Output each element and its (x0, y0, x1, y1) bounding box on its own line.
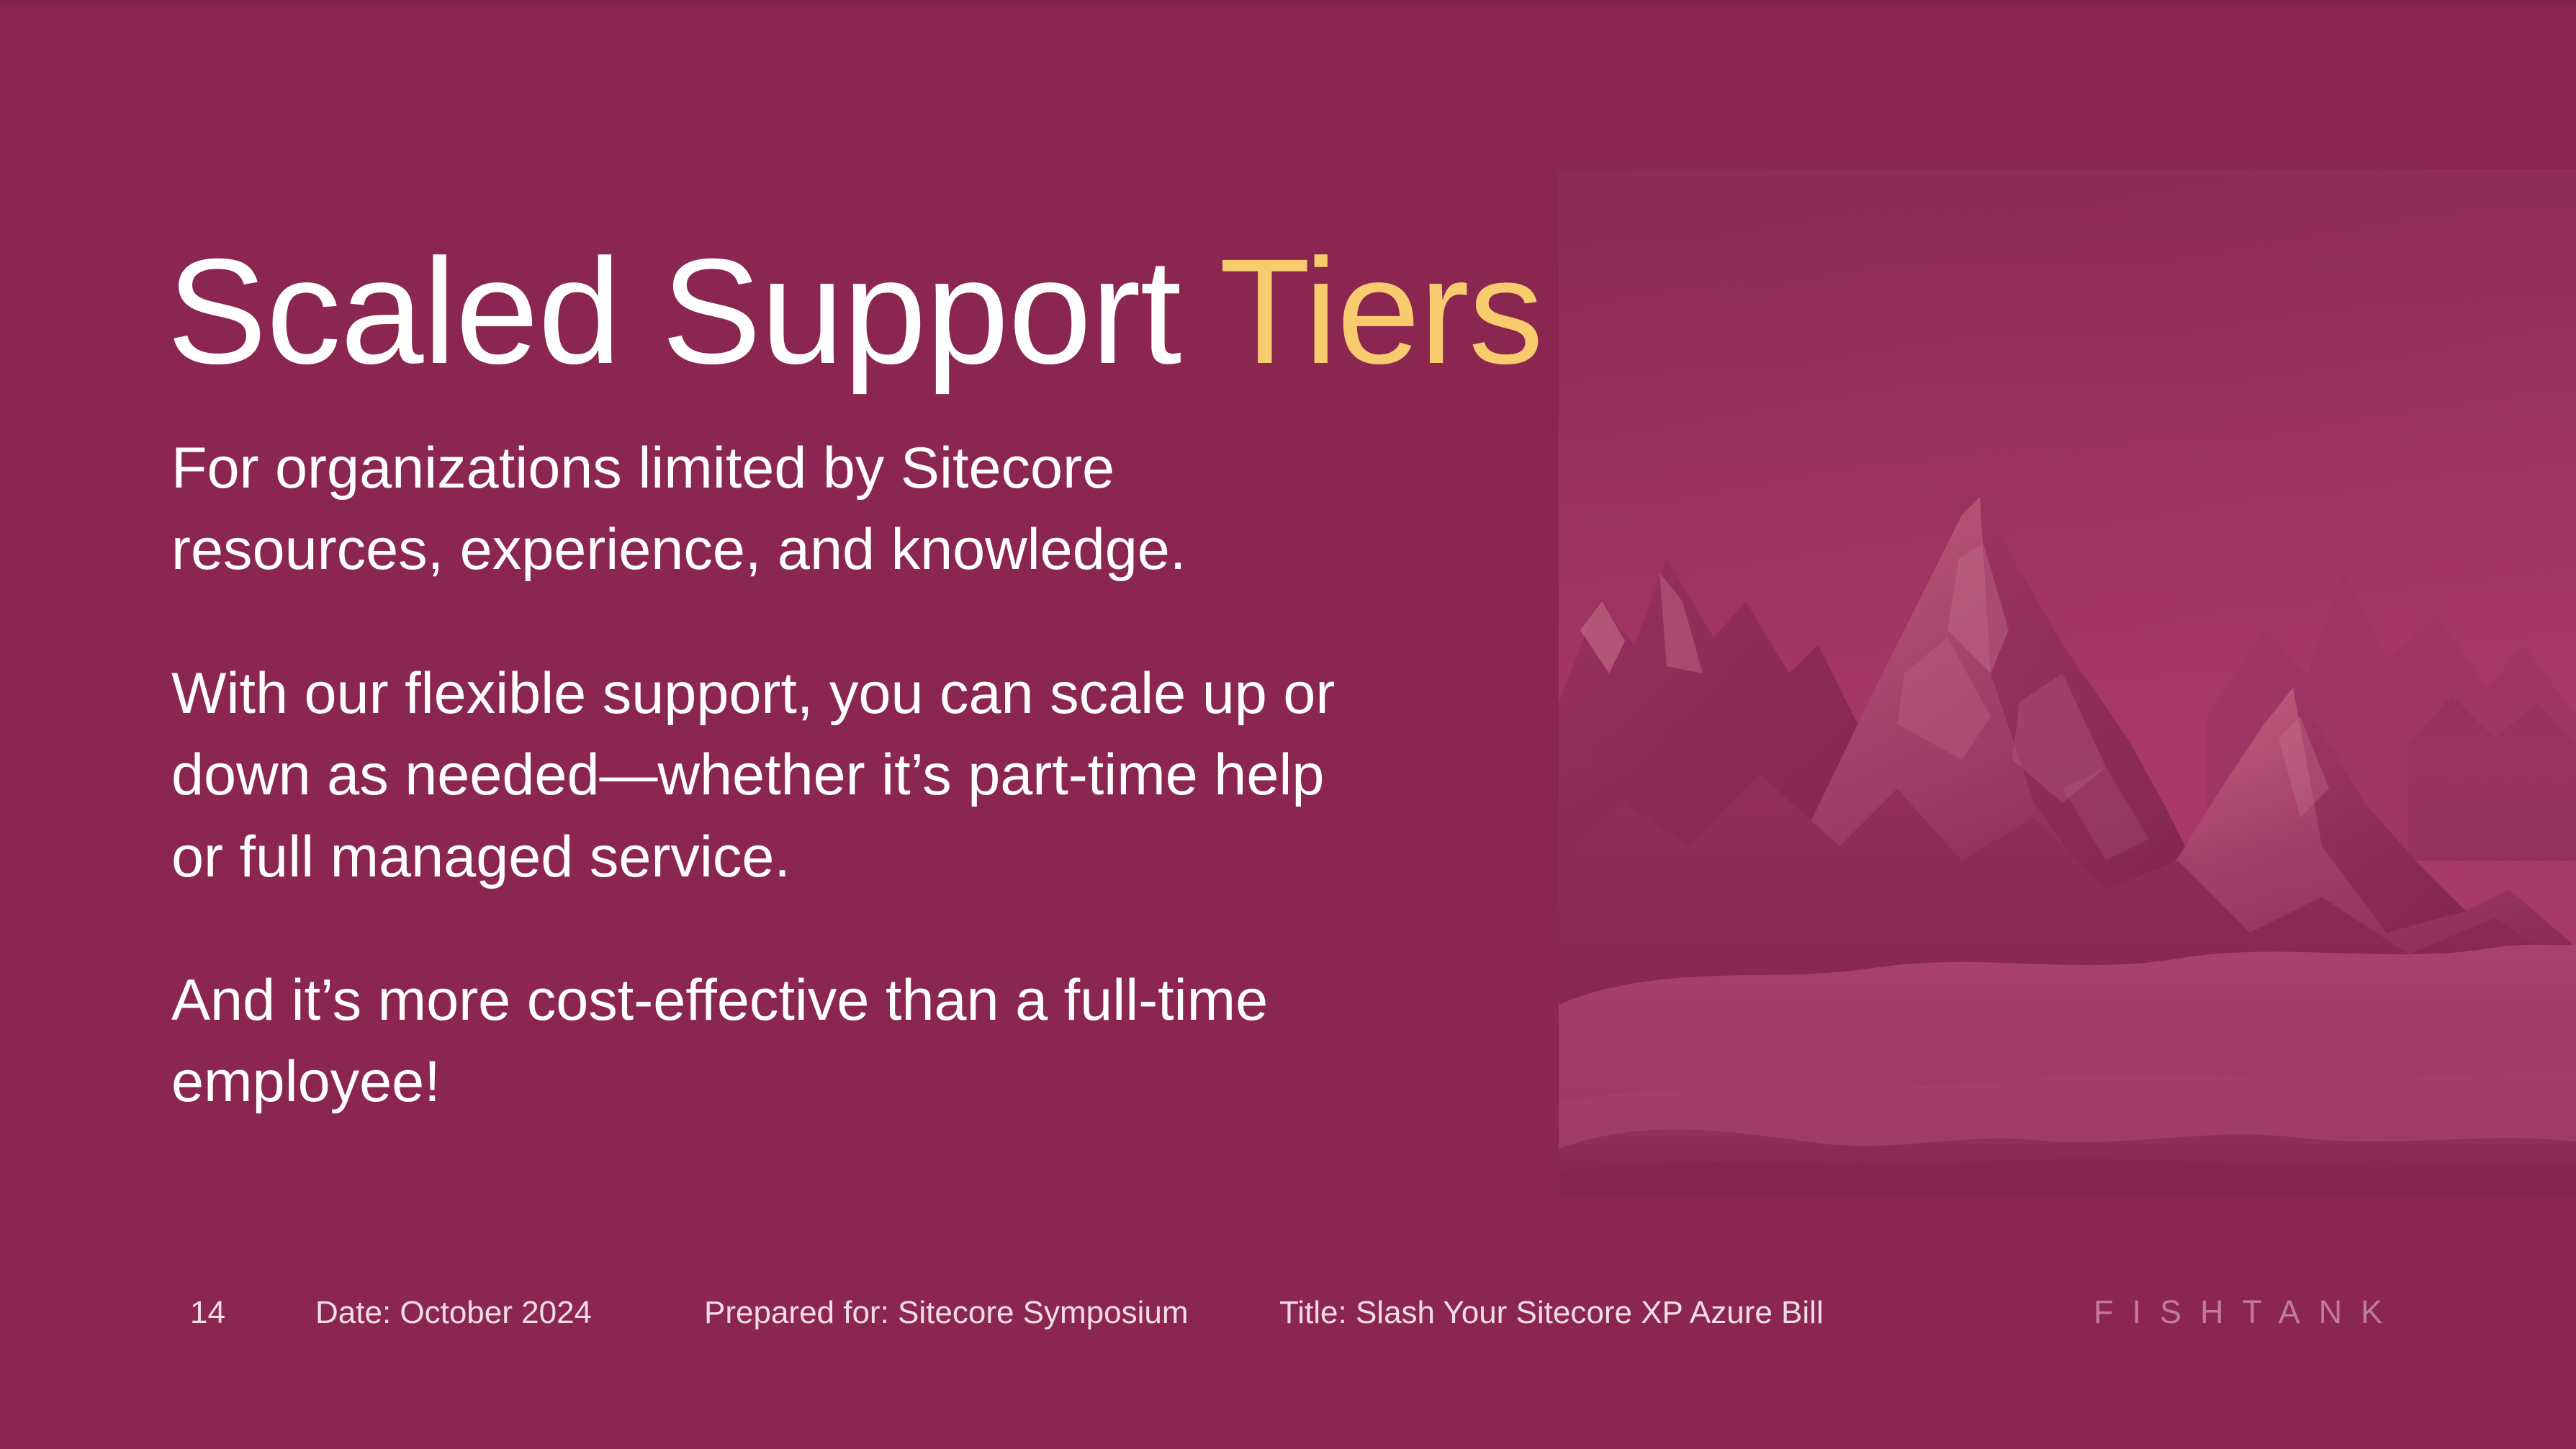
page-title-accent: Tiers (1219, 228, 1543, 395)
page-title: Scaled Support Tiers (167, 237, 1543, 387)
mountain-photo (1559, 169, 2576, 1195)
body-paragraph-3: And it’s more cost-effective than a full… (171, 960, 1352, 1123)
fishtank-logo: FISHTANK (2094, 1293, 2401, 1331)
body-paragraph-1: For organizations limited by Sitecore re… (171, 428, 1352, 591)
presentation-slide: Scaled Support Tiers For organizations l… (0, 0, 2576, 1449)
body-paragraph-2: With our flexible support, you can scale… (171, 653, 1352, 898)
footer-deck-title: Title: Slash Your Sitecore XP Azure Bill (1279, 1295, 1824, 1331)
footer-date: Date: October 2024 (315, 1295, 592, 1331)
footer-page-number: 14 (190, 1295, 225, 1331)
mountain-photo-illustration (1559, 169, 2576, 1195)
body-copy: For organizations limited by Sitecore re… (171, 428, 1352, 1123)
footer-prepared-for: Prepared for: Sitecore Symposium (704, 1295, 1189, 1331)
page-title-main: Scaled Support (167, 228, 1219, 395)
slide-top-accent-band (0, 0, 2576, 10)
